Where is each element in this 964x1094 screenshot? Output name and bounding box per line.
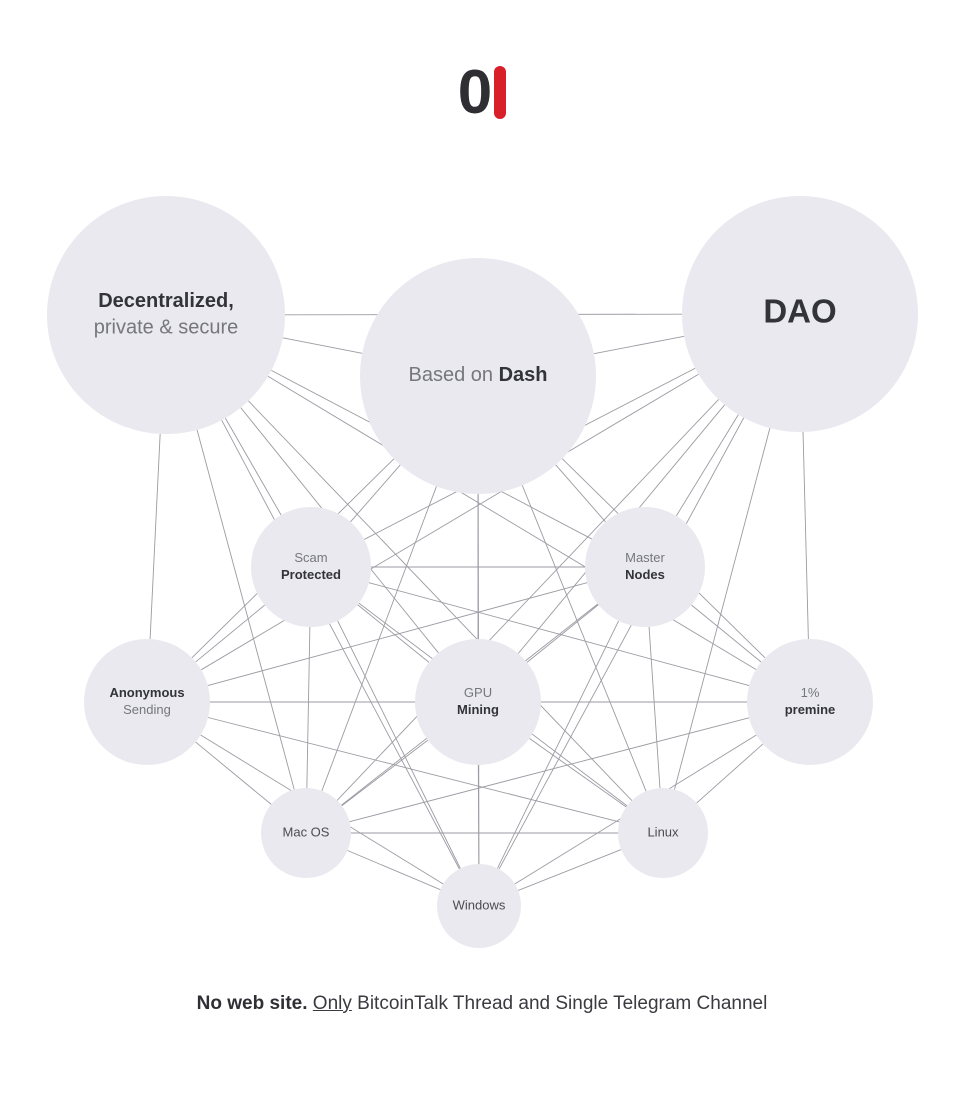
edge-mac-os-windows — [347, 850, 440, 889]
logo-red-bar-icon — [494, 66, 506, 119]
logo-zero-glyph: 0 — [458, 58, 491, 127]
node-premine[interactable]: 1%premine — [747, 639, 873, 765]
node-label-decentralized: private & secure — [94, 316, 239, 338]
slide-canvas: 0 Decentralized,private & secureBased on… — [0, 0, 964, 1094]
node-decentralized[interactable]: Decentralized,private & secure — [47, 196, 285, 434]
node-label-anonymous-sending: Anonymous — [109, 685, 184, 700]
edge-master-nodes-linux — [649, 627, 660, 788]
edge-decentralized-scam-protected — [225, 418, 281, 515]
edge-based-on-dash-scam-protected — [350, 465, 400, 522]
edge-anonymous-sending-linux — [208, 718, 619, 822]
edge-scam-protected-gpu-mining — [358, 605, 429, 663]
edge-based-on-dash-dao — [594, 336, 684, 353]
node-linux[interactable]: Linux — [618, 788, 708, 878]
edge-dao-premine — [803, 432, 808, 639]
edge-dao-master-nodes — [676, 415, 738, 516]
network-diagram: Decentralized,private & secureBased on D… — [0, 150, 964, 970]
footer-caption: No web site. Only BitcoinTalk Thread and… — [0, 993, 964, 1015]
node-label-scam-protected: Protected — [281, 567, 341, 582]
node-dao[interactable]: DAO — [682, 196, 918, 432]
node-gpu-mining[interactable]: GPUMining — [415, 639, 541, 765]
footer-bold-text: No web site. — [197, 993, 308, 1014]
network-graph-svg: Decentralized,private & secureBased on D… — [0, 150, 964, 970]
node-label-linux: Linux — [647, 824, 679, 839]
footer-rest-text: BitcoinTalk Thread and Single Telegram C… — [357, 993, 767, 1014]
edge-scam-protected-mac-os — [307, 627, 310, 788]
node-based-on-dash[interactable]: Based on Dash — [360, 258, 596, 494]
node-label-premine: premine — [785, 702, 836, 717]
node-label-scam-protected: Scam — [294, 550, 327, 565]
node-label-master-nodes: Nodes — [625, 567, 665, 582]
node-windows[interactable]: Windows — [437, 864, 521, 948]
edge-master-nodes-gpu-mining — [527, 605, 598, 663]
node-label-decentralized: Decentralized, — [98, 290, 234, 312]
node-label-prefix-based-on-dash: Based on — [409, 364, 499, 386]
edge-anonymous-sending-mac-os — [196, 742, 272, 804]
footer-underlined-text: Only — [313, 993, 352, 1014]
edge-master-nodes-premine — [691, 605, 761, 662]
edge-scam-protected-anonymous-sending — [196, 605, 265, 662]
node-label-dao: DAO — [763, 293, 836, 330]
edge-decentralized-based-on-dash — [283, 338, 362, 354]
node-layer: Decentralized,private & secureBased on D… — [47, 196, 918, 948]
node-label-emphasis-based-on-dash: Dash — [499, 364, 548, 386]
edge-decentralized-anonymous-sending — [150, 434, 160, 639]
edge-decentralized-windows — [222, 420, 460, 869]
node-mac-os[interactable]: Mac OS — [261, 788, 351, 878]
node-circle-decentralized — [47, 196, 285, 434]
node-label-based-on-dash: Based on Dash — [409, 364, 548, 386]
node-label-windows: Windows — [453, 897, 506, 912]
node-label-gpu-mining: Mining — [457, 702, 499, 717]
node-label-premine: 1% — [801, 685, 820, 700]
brand-logo: 0 — [0, 62, 964, 124]
node-label-mac-os: Mac OS — [283, 824, 330, 839]
node-label-anonymous-sending: Sending — [123, 702, 171, 717]
node-label-gpu-mining: GPU — [464, 685, 492, 700]
edge-linux-windows — [518, 850, 621, 891]
node-label-master-nodes: Master — [625, 550, 665, 565]
edge-premine-linux — [697, 744, 763, 803]
node-anonymous-sending[interactable]: AnonymousSending — [84, 639, 210, 765]
node-scam-protected[interactable]: ScamProtected — [251, 507, 371, 627]
node-master-nodes[interactable]: MasterNodes — [585, 507, 705, 627]
